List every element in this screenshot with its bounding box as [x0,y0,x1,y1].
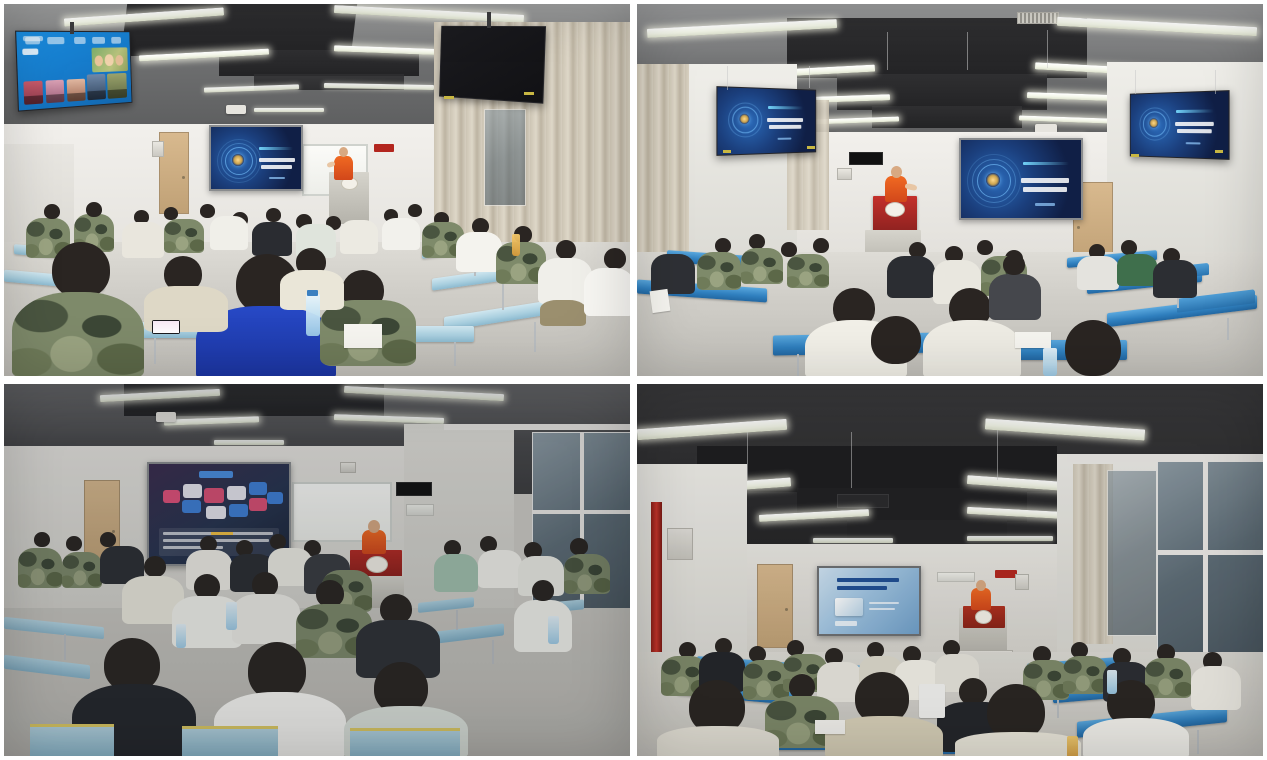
led-clock [849,152,883,165]
speaker-body [971,588,991,610]
projector [226,105,246,114]
standpipe [651,502,662,672]
chair [182,726,278,756]
person-body [923,320,1021,376]
chair [350,728,460,756]
speaker-head [891,166,902,178]
speaker-head [976,580,986,591]
handout [815,720,845,734]
slide-emblem [232,154,244,166]
tv-app-ui [16,32,131,111]
air-conditioner [406,504,434,516]
wall-speaker [152,141,164,157]
handout [344,324,382,348]
handout [1015,332,1051,348]
tv-thumbnail[interactable] [23,80,44,104]
wall-speaker [837,168,852,180]
led-clock [396,482,432,496]
backpack [919,684,945,718]
tv-thumbnail[interactable] [66,78,85,101]
exit-sign [995,570,1017,578]
ceiling-light [214,440,284,445]
speaker-body [362,530,386,554]
collage-panel-top-right [637,4,1263,376]
collage-panel-bottom-left [4,384,630,756]
speaker-body [885,176,907,202]
window [484,109,526,206]
person-head [52,242,110,298]
ceiling-light [254,108,324,112]
window [1157,460,1263,662]
photo-collage [0,0,1267,760]
tv-thumbnail[interactable] [87,74,106,100]
water-bottle [306,294,320,336]
speaker-body [334,156,353,180]
person-body [657,726,779,756]
exit-sign [374,144,394,152]
water-bottle [226,602,237,630]
wall-box [667,528,693,560]
phone-on-desk[interactable] [152,320,180,334]
tv-hero-thumbnail[interactable] [91,48,127,73]
podium-emblem [975,610,992,624]
window [1107,470,1157,636]
projector [156,412,176,422]
projection-screen [209,125,303,191]
speaker-head [339,147,348,157]
projection-screen [959,138,1083,220]
podium-emblem [366,556,388,573]
person-head [1065,320,1121,376]
speaker-head [368,520,380,533]
podium-emblem [885,202,905,217]
wall-speaker [1015,574,1029,590]
wall-speaker [340,462,356,473]
tv-thumbnail[interactable] [107,73,127,99]
door [757,564,793,648]
water-bottle [1043,348,1057,376]
ceiling-light [967,536,1053,541]
air-conditioner [937,572,975,582]
collage-panel-bottom-right [637,384,1263,756]
person-head [871,316,921,364]
person-body [1083,718,1189,756]
tv-thumbnail[interactable] [45,79,65,103]
water-bottle [176,624,186,648]
ceiling-tv-streaming[interactable] [15,31,132,112]
person-body [955,732,1081,756]
ceiling-tv-left[interactable] [716,86,816,156]
water-bottle [1107,670,1117,694]
handout [650,289,671,313]
projection-screen [817,566,921,636]
slide-emblem [986,173,1000,187]
water-bottle [548,616,559,644]
ceiling-light [813,538,893,543]
collage-panel-top-left [4,4,630,376]
person-body [12,292,144,376]
chair [30,724,114,756]
water-bottle [1067,736,1078,756]
water-bottle [512,234,520,256]
